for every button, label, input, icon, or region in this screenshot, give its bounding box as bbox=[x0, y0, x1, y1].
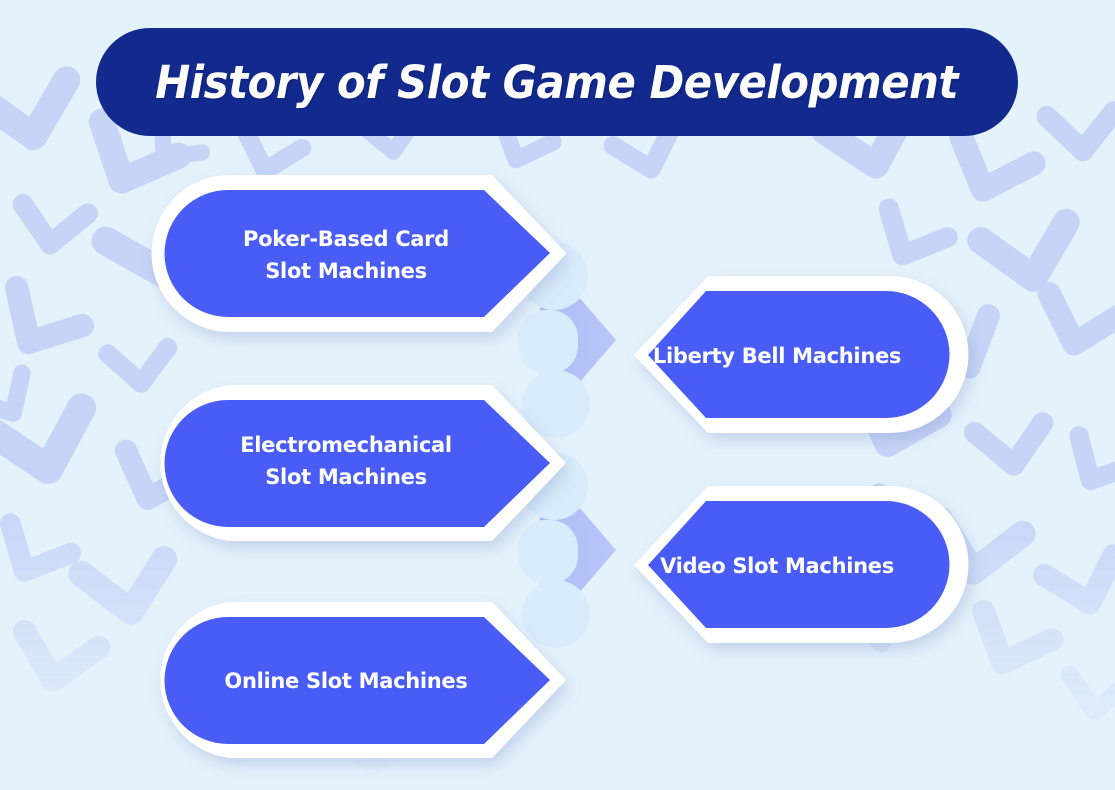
flow-shape-step-1[interactable] bbox=[152, 175, 567, 332]
flow-shape-step-4[interactable] bbox=[634, 486, 969, 643]
flow-shape-step-5[interactable] bbox=[160, 602, 566, 758]
flow-shape-step-2[interactable] bbox=[634, 276, 969, 433]
page-title-banner: History of Slot Game Development bbox=[96, 28, 1018, 136]
infographic-canvas: History of Slot Game Development bbox=[0, 0, 1115, 790]
flow-shape-step-3[interactable] bbox=[160, 385, 566, 541]
page-title: History of Slot Game Development bbox=[156, 56, 959, 109]
